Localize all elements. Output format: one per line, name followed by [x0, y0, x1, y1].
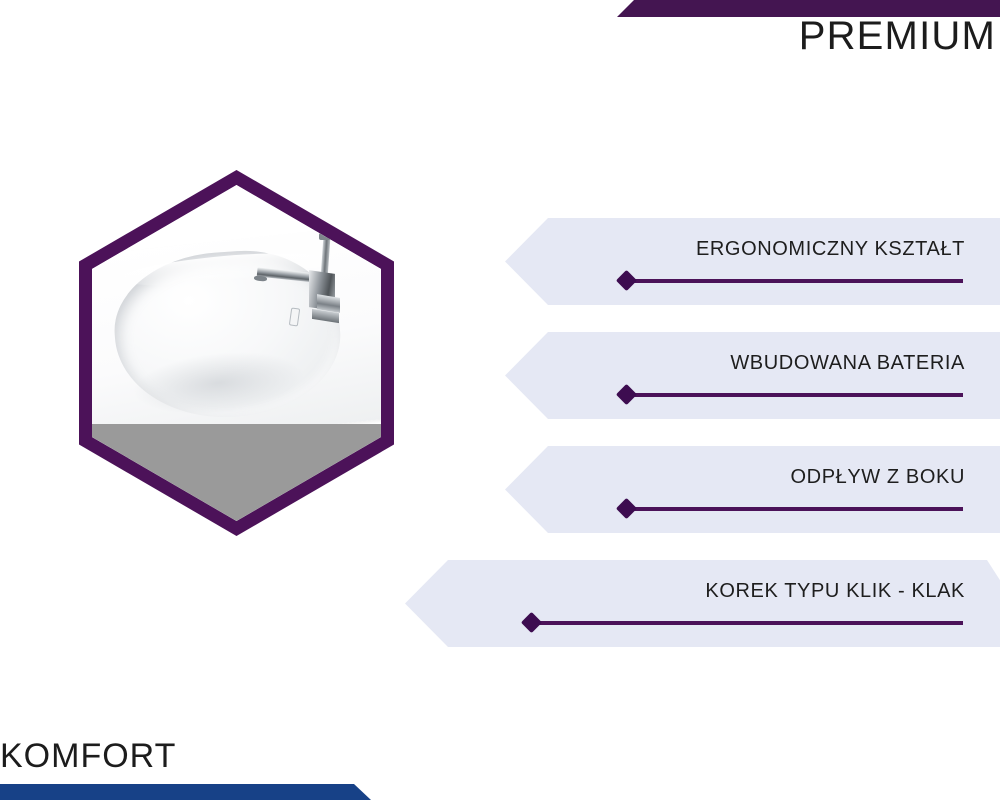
- feature-underline: [626, 279, 963, 283]
- feature-banner-shape: [405, 560, 1000, 647]
- feature-underline: [531, 621, 963, 625]
- feature-list: ERGONOMICZNY KSZTAŁT WBUDOWANA BATERIA O…: [0, 218, 1000, 674]
- feature-item: KOREK TYPU KLIK - KLAK: [0, 560, 1000, 647]
- feature-underline: [626, 393, 963, 397]
- feature-underline: [626, 507, 963, 511]
- feature-item: ERGONOMICZNY KSZTAŁT: [0, 218, 1000, 305]
- page-title: PREMIUM: [799, 16, 996, 56]
- feature-label: WBUDOWANA BATERIA: [730, 352, 965, 375]
- feature-banner-shape: [505, 332, 1000, 419]
- footer-title: KOMFORT: [0, 739, 176, 773]
- feature-label: ERGONOMICZNY KSZTAŁT: [696, 238, 965, 261]
- feature-banner-shape: [505, 446, 1000, 533]
- feature-banner-shape: [505, 218, 1000, 305]
- feature-item: WBUDOWANA BATERIA: [0, 332, 1000, 419]
- feature-item: ODPŁYW Z BOKU: [0, 446, 1000, 533]
- feature-label: KOREK TYPU KLIK - KLAK: [705, 580, 965, 603]
- footer-accent-bar: [0, 784, 371, 800]
- feature-label: ODPŁYW Z BOKU: [791, 466, 966, 489]
